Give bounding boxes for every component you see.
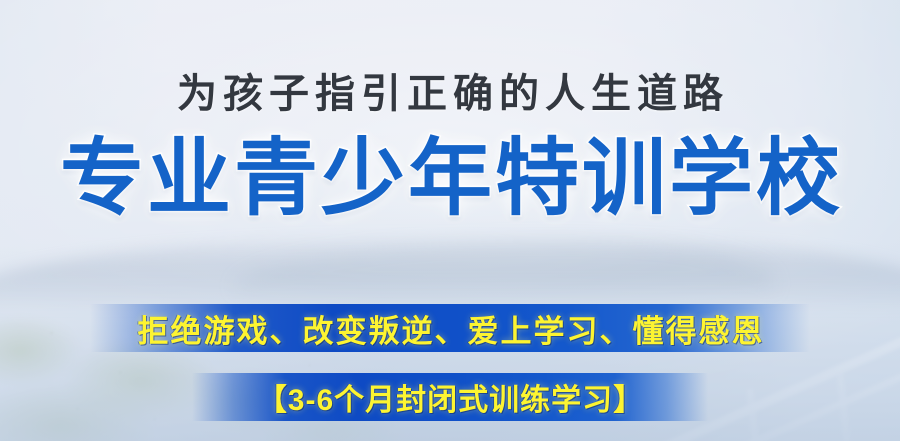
- tagline-band-primary-text: 拒绝游戏、改变叛逆、爱上学习、懂得感恩: [136, 306, 765, 351]
- banner-subtitle: 为孩子指引正确的人生道路: [0, 68, 900, 120]
- tagline-band-secondary: 【3-6个月封闭式训练学习】: [192, 373, 708, 421]
- tagline-band-primary: 拒绝游戏、改变叛逆、爱上学习、懂得感恩: [90, 304, 810, 352]
- promotional-banner: 为孩子指引正确的人生道路 专业青少年特训学校 拒绝游戏、改变叛逆、爱上学习、懂得…: [0, 0, 900, 441]
- tagline-band-secondary-text: 【3-6个月封闭式训练学习】: [256, 375, 644, 419]
- banner-content: 为孩子指引正确的人生道路 专业青少年特训学校 拒绝游戏、改变叛逆、爱上学习、懂得…: [0, 0, 900, 441]
- banner-headline: 专业青少年特训学校: [0, 126, 900, 230]
